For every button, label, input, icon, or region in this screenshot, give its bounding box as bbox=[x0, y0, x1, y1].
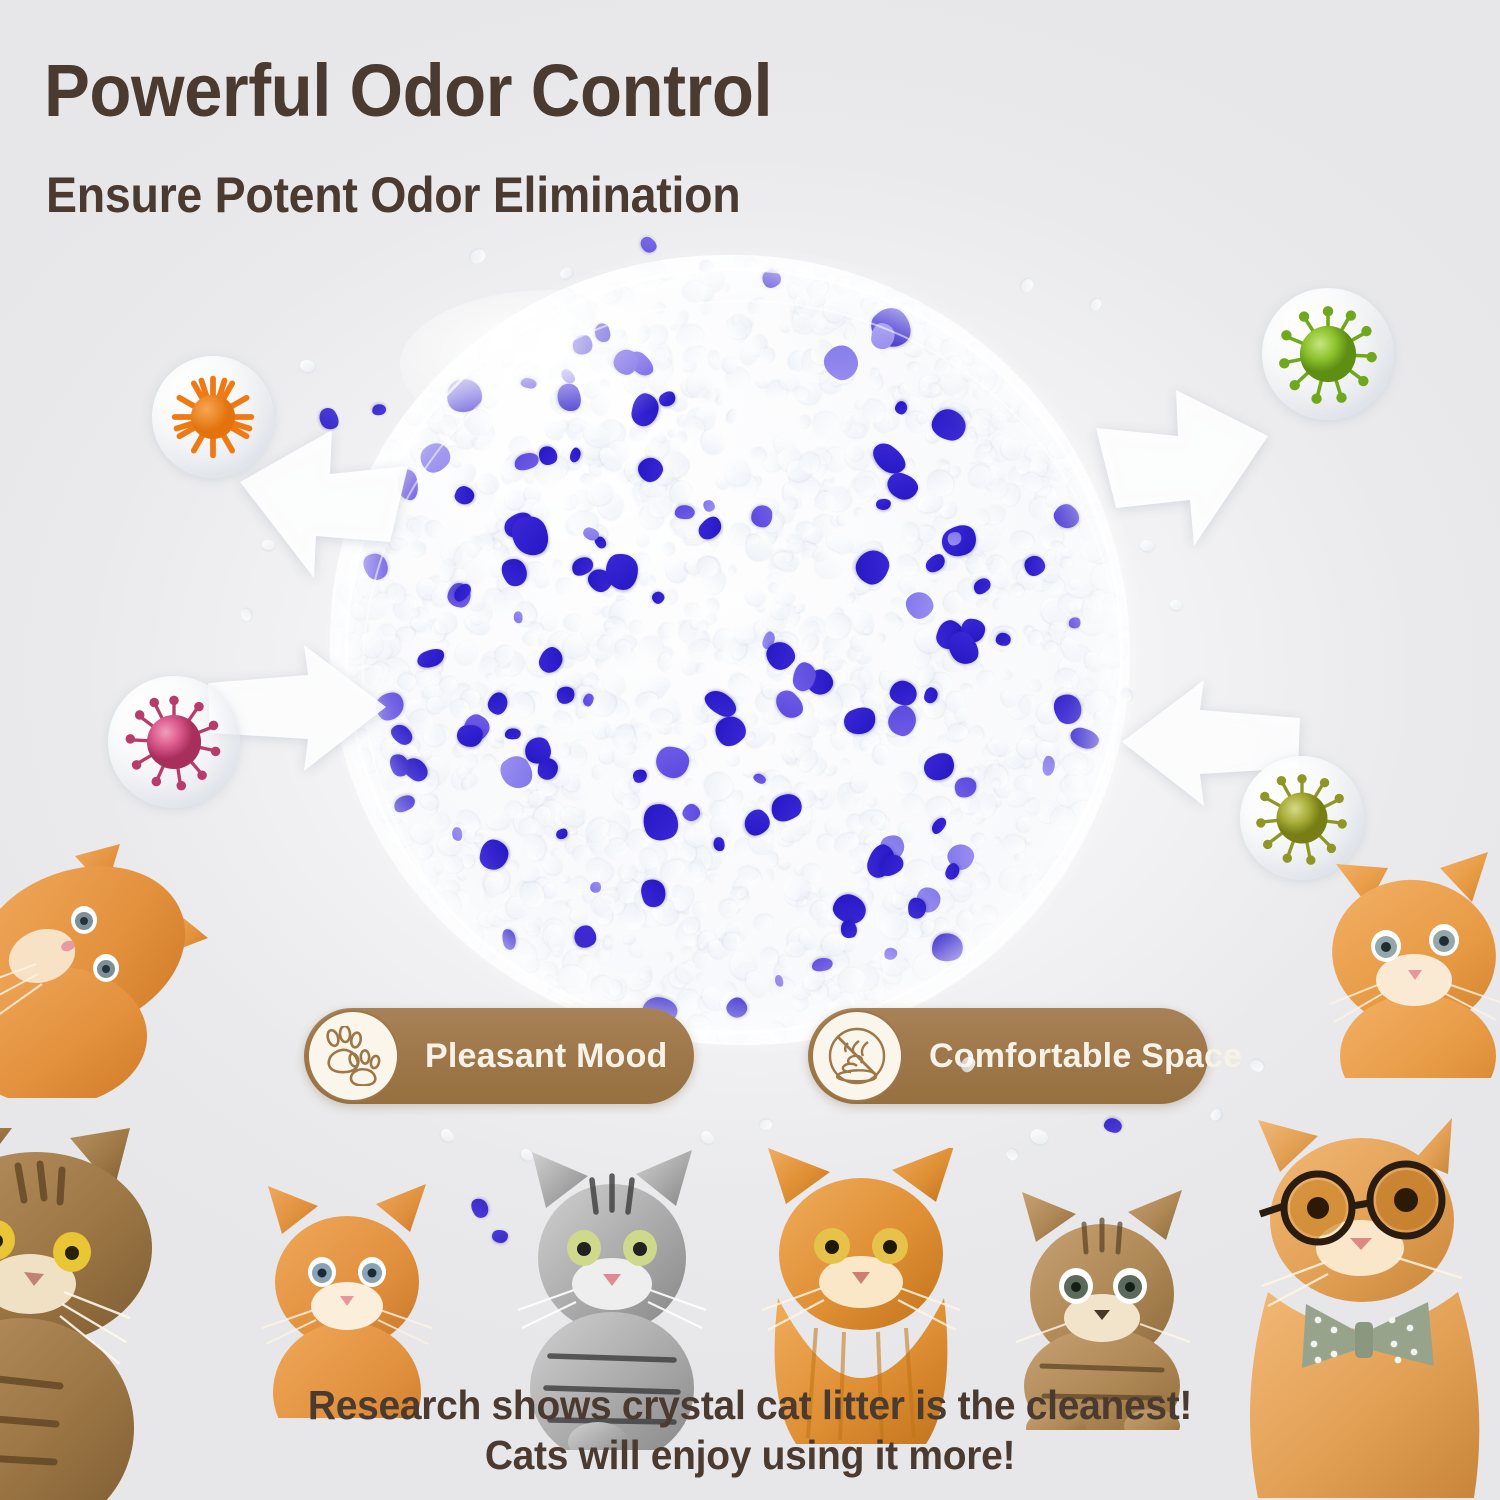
stray-crystal bbox=[558, 265, 575, 281]
cat-orange-tilted-left bbox=[0, 838, 210, 1098]
stray-crystal bbox=[468, 246, 488, 266]
stray-crystal bbox=[1004, 1147, 1019, 1162]
cat-orange-kitten-right bbox=[1322, 828, 1500, 1078]
stray-crystal bbox=[1209, 1107, 1223, 1122]
page-subtitle: Ensure Potent Odor Elimination bbox=[46, 166, 740, 224]
no-odor-icon bbox=[811, 1010, 903, 1102]
stray-crystal bbox=[698, 1129, 716, 1147]
germ-bubble-orange bbox=[152, 356, 274, 478]
stray-crystal bbox=[239, 607, 253, 622]
crystal-litter-pile bbox=[330, 255, 1130, 1045]
paw-prints-icon bbox=[307, 1010, 399, 1102]
virus-green-icon bbox=[1276, 302, 1380, 406]
product-marketing-banner: Powerful Odor Control Ensure Potent Odor… bbox=[0, 0, 1500, 1500]
stray-crystal bbox=[1028, 1127, 1050, 1147]
stray-crystal bbox=[1249, 1058, 1266, 1073]
stray-crystal bbox=[316, 405, 342, 433]
stray-crystal bbox=[468, 1195, 492, 1220]
stray-crystal bbox=[492, 1230, 508, 1243]
caption-line-2: Cats will enjoy using it more! bbox=[38, 1430, 1463, 1480]
page-title: Powerful Odor Control bbox=[44, 48, 772, 133]
bottom-caption: Research shows crystal cat litter is the… bbox=[0, 1380, 1500, 1480]
stray-crystal bbox=[1170, 600, 1182, 610]
feature-label: Comfortable Space bbox=[929, 1037, 1242, 1076]
virus-pink-icon bbox=[122, 690, 226, 794]
caption-line-1: Research shows crystal cat litter is the… bbox=[38, 1380, 1463, 1430]
virus-orange-icon bbox=[165, 369, 261, 465]
stray-crystal bbox=[371, 403, 387, 417]
stray-crystal bbox=[1089, 297, 1103, 312]
stray-crystal bbox=[438, 1127, 456, 1145]
feature-pill-pleasant-mood[interactable]: Pleasant Mood bbox=[304, 1008, 694, 1104]
stray-crystal bbox=[759, 1118, 774, 1131]
feature-pill-comfortable-space[interactable]: Comfortable Space bbox=[808, 1008, 1208, 1104]
germ-bubble-pink bbox=[108, 676, 240, 808]
germ-bubble-green bbox=[1262, 288, 1394, 420]
feature-label: Pleasant Mood bbox=[425, 1037, 668, 1076]
stray-crystal bbox=[1103, 1116, 1124, 1134]
stray-crystal bbox=[300, 360, 315, 372]
stray-crystal bbox=[1019, 277, 1036, 295]
